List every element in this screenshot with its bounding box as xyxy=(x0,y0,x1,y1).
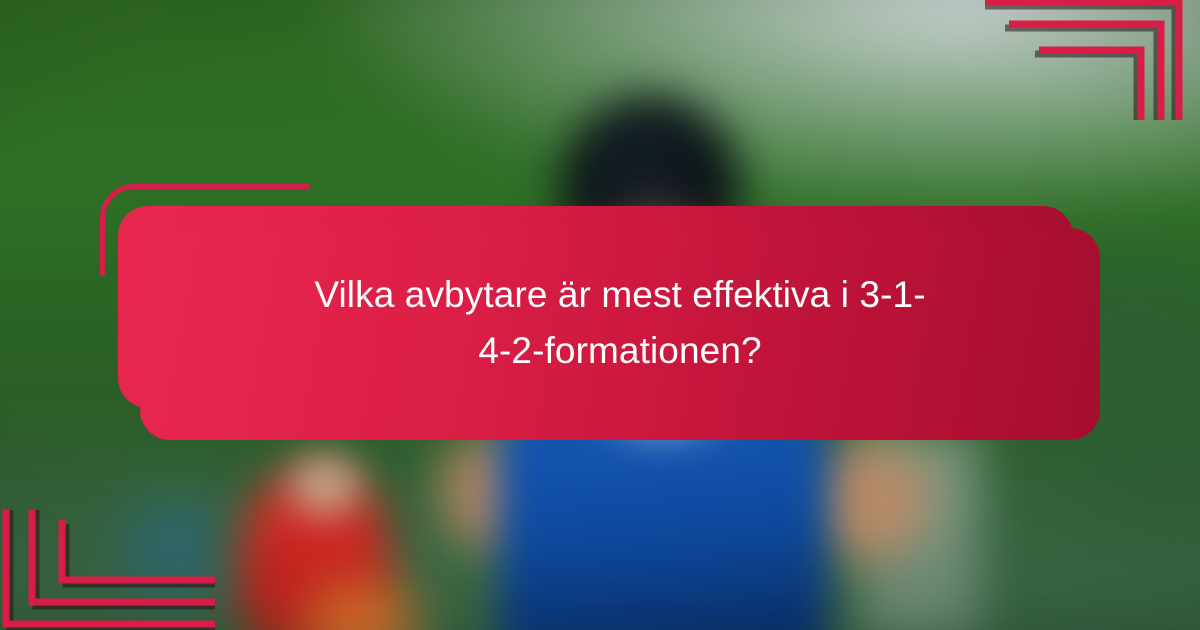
card-layer-front xyxy=(140,228,1100,440)
share-card-canvas: Vilka avbytare är mest effektiva i 3-1-4… xyxy=(0,0,1200,630)
